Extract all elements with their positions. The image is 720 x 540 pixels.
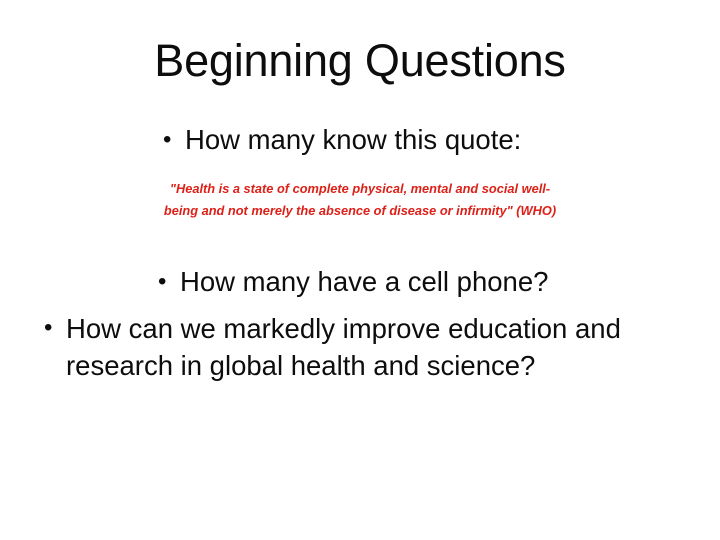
slide-canvas: Beginning Questions • How many know this… <box>0 0 720 540</box>
who-quote-line-2: being and not merely the absence of dise… <box>24 200 696 222</box>
list-item: • How many have a cell phone? <box>158 264 720 300</box>
list-item: • How many know this quote: <box>163 122 720 158</box>
bullet-icon: • <box>158 264 180 300</box>
list-item-label: How many know this quote: <box>185 122 521 158</box>
who-quote-line-1: "Health is a state of complete physical,… <box>24 178 696 200</box>
bullet-icon: • <box>163 122 185 158</box>
bullet-icon: • <box>44 310 66 346</box>
page-title: Beginning Questions <box>0 34 720 88</box>
list-item: • How can we markedly improve education … <box>44 310 684 384</box>
list-item-label: How many have a cell phone? <box>180 264 548 300</box>
who-quote: "Health is a state of complete physical,… <box>0 178 720 222</box>
list-item-label: How can we markedly improve education an… <box>66 310 676 384</box>
slide-body: • How many know this quote: "Health is a… <box>0 122 720 384</box>
